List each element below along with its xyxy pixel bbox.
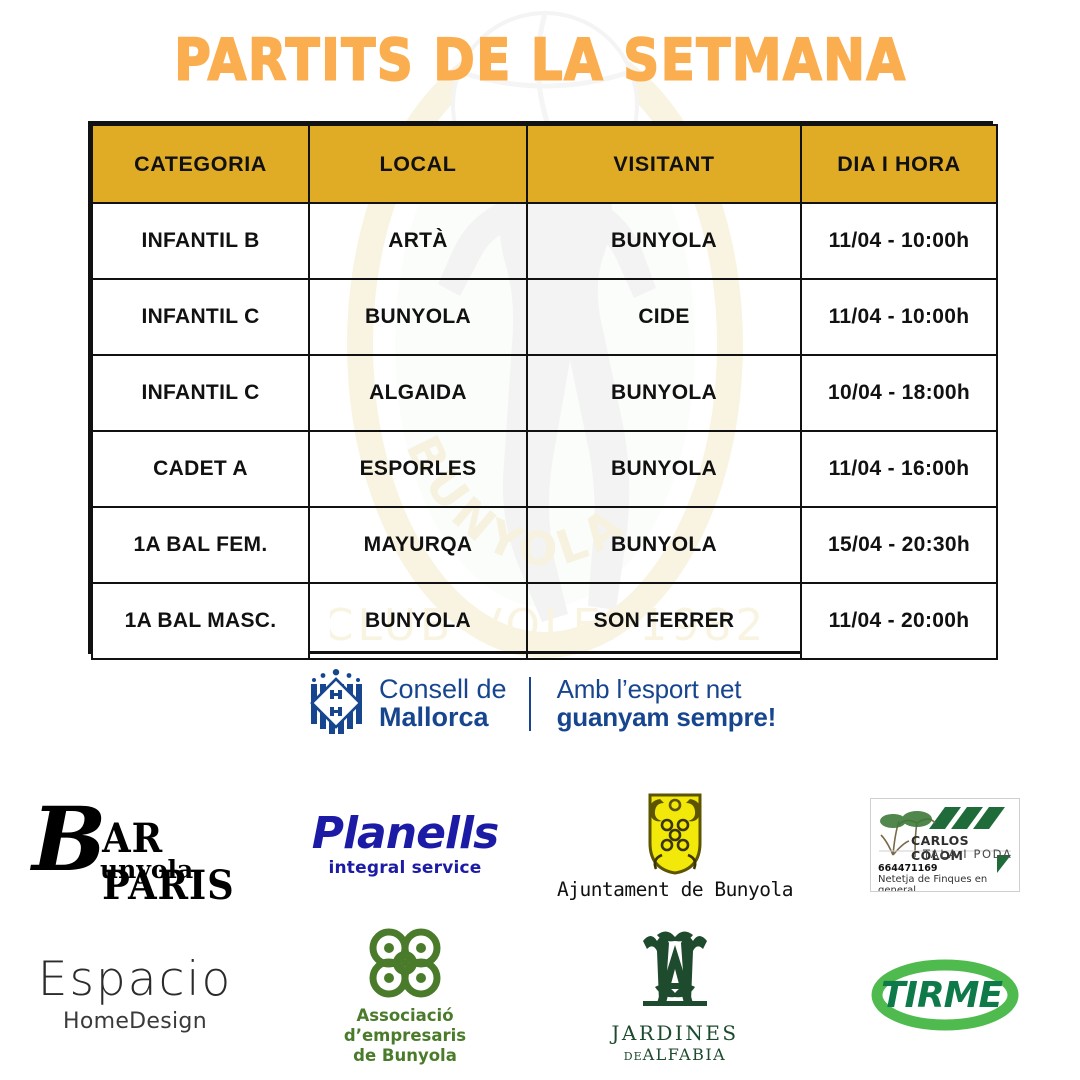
cell-dia-hora: 10/04 - 18:00h bbox=[801, 355, 997, 431]
cell-categoria: INFANTIL C bbox=[92, 355, 309, 431]
cell-visitant: CIDE bbox=[527, 279, 801, 355]
associacio-line1: Associació bbox=[344, 1006, 466, 1026]
cell-visitant: BUNYOLA bbox=[527, 507, 801, 583]
cell-dia-hora: 15/04 - 20:30h bbox=[801, 507, 997, 583]
sponsor-carlos-colom: CARLOS COLOM TALA I PODA 664471169 Netet… bbox=[810, 775, 1080, 915]
cell-visitant: SON FERRER bbox=[527, 583, 801, 659]
cell-visitant: BUNYOLA bbox=[527, 431, 801, 507]
bunyola-crest-icon bbox=[636, 789, 714, 875]
sponsor-tirme: TIRME bbox=[810, 915, 1080, 1075]
page-title: PARTITS DE LA SETMANA bbox=[0, 33, 1080, 88]
sponsor-associacio-empresaris: Associació d’empresaris de Bunyola bbox=[270, 915, 540, 1075]
cell-local: BUNYOLA bbox=[309, 279, 527, 355]
ajuntament-name: Ajuntament de Bunyola bbox=[557, 878, 793, 901]
sponsor-logos: B AR PARIS unyola Planells integral serv… bbox=[0, 775, 1080, 1080]
carlos-colom-service: TALA I PODA bbox=[923, 847, 1012, 861]
column-header-local: LOCAL bbox=[309, 125, 527, 203]
tirme-name: TIRME bbox=[881, 975, 1002, 1016]
consell-divider bbox=[529, 677, 531, 731]
consell-line1: Consell de bbox=[379, 676, 507, 704]
column-header-dia-hora: DIA I HORA bbox=[801, 125, 997, 203]
cell-local: ARTÀ bbox=[309, 203, 527, 279]
cell-dia-hora: 11/04 - 10:00h bbox=[801, 279, 997, 355]
jardines-line1: JARDINES bbox=[611, 1021, 738, 1045]
associacio-emblem-icon bbox=[362, 924, 448, 1002]
table-row: 1A BAL MASC. BUNYOLA SON FERRER 11/04 - … bbox=[92, 583, 997, 659]
sponsor-planells: Planells integral service bbox=[270, 775, 540, 915]
cell-visitant: BUNYOLA bbox=[527, 203, 801, 279]
cell-categoria: 1A BAL MASC. bbox=[92, 583, 309, 659]
table-header-row: CATEGORIA LOCAL VISITANT DIA I HORA bbox=[92, 125, 997, 203]
table-row: INFANTIL B ARTÀ BUNYOLA 11/04 - 10:00h bbox=[92, 203, 997, 279]
cell-categoria: INFANTIL B bbox=[92, 203, 309, 279]
jardines-de: DE bbox=[624, 1050, 643, 1063]
cell-dia-hora: 11/04 - 20:00h bbox=[801, 583, 997, 659]
jardines-alfabia-icon bbox=[627, 927, 723, 1019]
cell-categoria: 1A BAL FEM. bbox=[92, 507, 309, 583]
associacio-line2: d’empresaris bbox=[344, 1026, 466, 1046]
cell-categoria: INFANTIL C bbox=[92, 279, 309, 355]
cell-local: BUNYOLA bbox=[309, 583, 527, 659]
bar-paris-town: unyola bbox=[100, 855, 193, 884]
consell-emblem-icon bbox=[305, 669, 367, 739]
cell-categoria: CADET A bbox=[92, 431, 309, 507]
sponsor-bar-paris: B AR PARIS unyola bbox=[0, 775, 270, 915]
planells-tagline: integral service bbox=[312, 858, 499, 878]
page-title-text: PARTITS DE LA SETMANA bbox=[174, 27, 906, 94]
table-row: CADET A ESPORLES BUNYOLA 11/04 - 16:00h bbox=[92, 431, 997, 507]
cell-dia-hora: 11/04 - 10:00h bbox=[801, 203, 997, 279]
carlos-colom-desc: Netetja de Finques en general bbox=[878, 874, 1019, 892]
cell-local: ALGAIDA bbox=[309, 355, 527, 431]
carlos-colom-phone: 664471169 bbox=[878, 863, 938, 874]
cell-local: ESPORLES bbox=[309, 431, 527, 507]
slogan-line2: guanyam sempre! bbox=[557, 704, 777, 732]
table-row: INFANTIL C ALGAIDA BUNYOLA 10/04 - 18:00… bbox=[92, 355, 997, 431]
consell-line2: Mallorca bbox=[379, 704, 507, 732]
bar-paris-initial: B bbox=[32, 795, 106, 883]
column-header-visitant: VISITANT bbox=[527, 125, 801, 203]
table-row: 1A BAL FEM. MAYURQA BUNYOLA 15/04 - 20:3… bbox=[92, 507, 997, 583]
planells-name: Planells bbox=[312, 812, 499, 856]
column-header-categoria: CATEGORIA bbox=[92, 125, 309, 203]
associacio-line3: de Bunyola bbox=[344, 1046, 466, 1066]
table-row: INFANTIL C BUNYOLA CIDE 11/04 - 10:00h bbox=[92, 279, 997, 355]
espacio-name: Espacio bbox=[38, 956, 232, 1003]
consell-de-mallorca-logo: Consell de Mallorca Amb l’esport net gua… bbox=[305, 666, 795, 742]
slogan-line1: Amb l’esport net bbox=[557, 676, 777, 704]
espacio-sub: HomeDesign bbox=[38, 1009, 232, 1034]
matches-table: CATEGORIA LOCAL VISITANT DIA I HORA INFA… bbox=[88, 121, 993, 654]
jardines-alfabia: ALFABIA bbox=[643, 1045, 727, 1064]
cell-dia-hora: 11/04 - 16:00h bbox=[801, 431, 997, 507]
cell-local: MAYURQA bbox=[309, 507, 527, 583]
sponsor-ajuntament-bunyola: Ajuntament de Bunyola bbox=[540, 775, 810, 915]
cell-visitant: BUNYOLA bbox=[527, 355, 801, 431]
sponsor-jardines-alfabia: JARDINES DEALFABIA bbox=[540, 915, 810, 1075]
sponsor-espacio: Espacio HomeDesign bbox=[0, 915, 270, 1075]
